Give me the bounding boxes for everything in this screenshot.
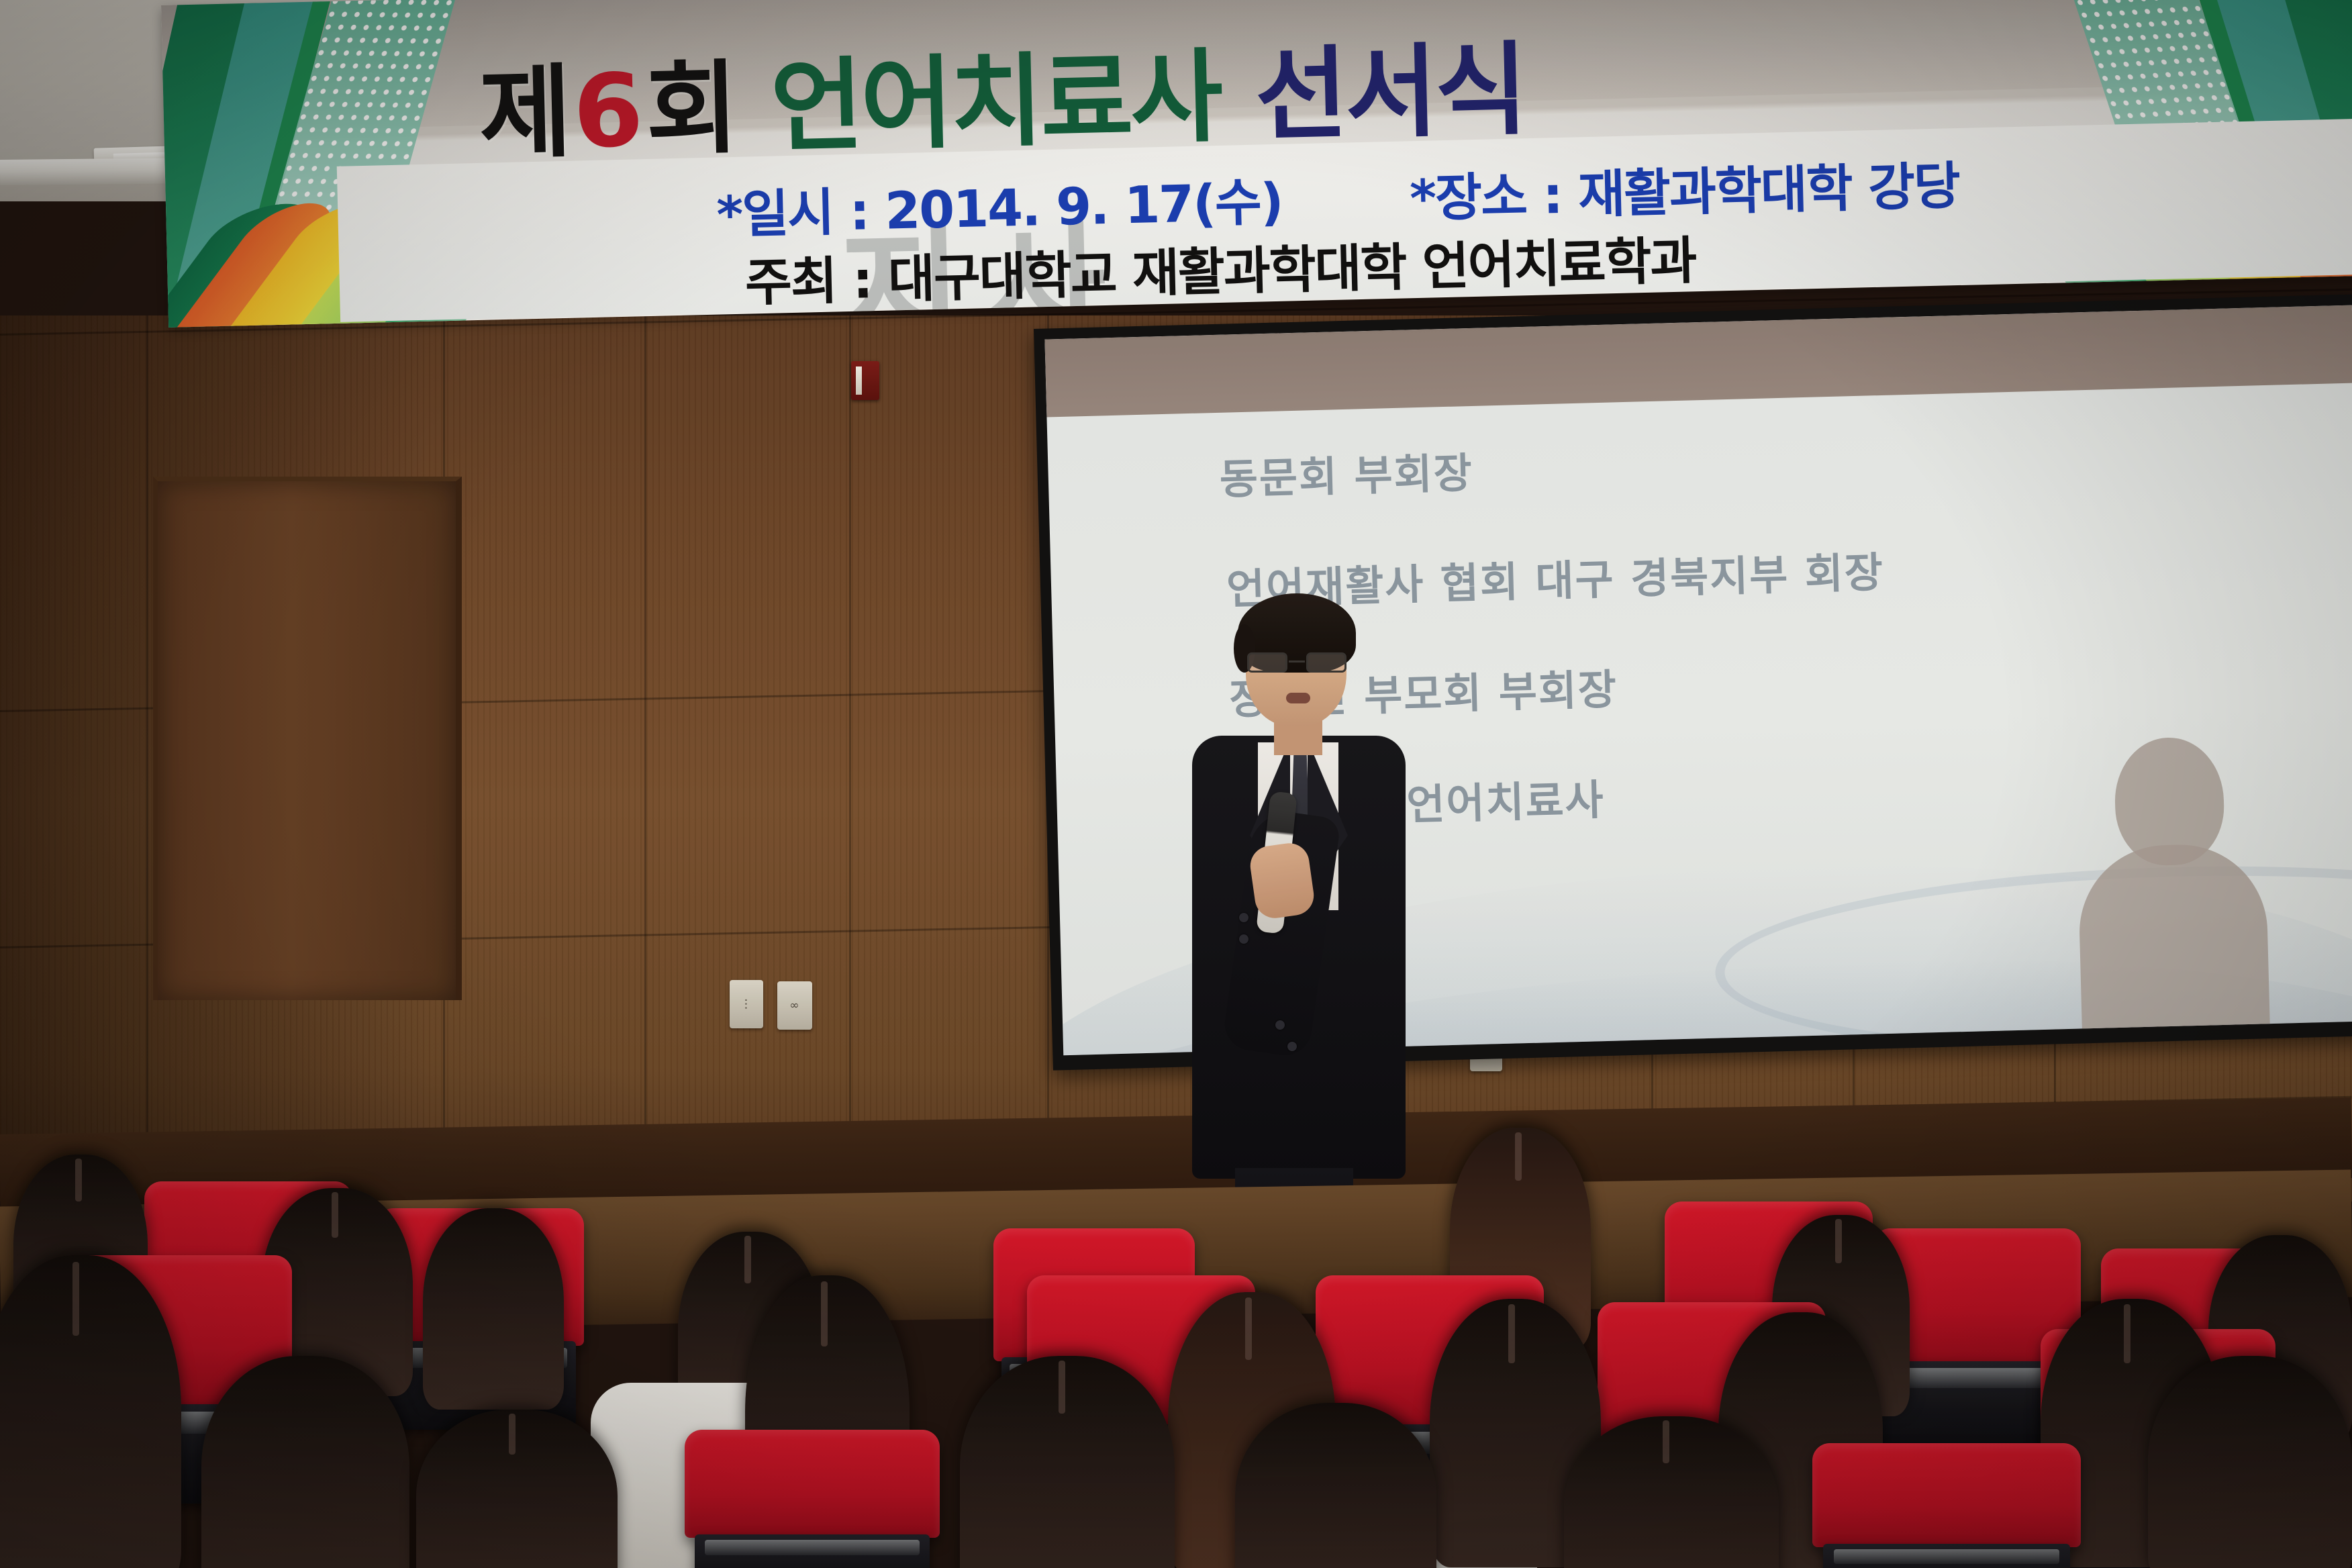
- audience-head: [1564, 1416, 1779, 1568]
- banner-title-number: 6: [568, 52, 647, 171]
- slide-line-1: 동문회 부회장: [1219, 416, 2348, 506]
- glasses-bridge: [1289, 660, 1305, 663]
- speaker-person: [1188, 591, 1410, 1269]
- wall-seam: [146, 315, 148, 1202]
- switch-icon: ⋮: [740, 997, 752, 1011]
- audience-head: [416, 1410, 618, 1568]
- photo-canvas: ⋮ ∞ ∞ 동문회 부회장 언어재활사 협회 대구 경북지부 회장 장애인 부모…: [0, 0, 2352, 1568]
- jacket-button: [1287, 1042, 1297, 1051]
- light-switch-plate[interactable]: ⋮: [730, 980, 763, 1028]
- banner-title-part-4: 언어치료사: [769, 15, 1222, 172]
- jacket-button: [1275, 1020, 1285, 1030]
- jacket-button: [1239, 934, 1248, 944]
- banner-title-part-1: 제: [477, 31, 571, 179]
- speaker-mouth: [1286, 693, 1310, 703]
- audience-head: [960, 1356, 1175, 1568]
- glasses-lens: [1247, 652, 1287, 673]
- glasses-icon: [1247, 652, 1346, 673]
- wall-seam: [644, 315, 646, 1202]
- banner-host-label: 주최 : 대구대학교 재활과학대학 언어치료학과: [744, 230, 1696, 312]
- audience-head: [0, 1255, 181, 1568]
- jacket-button: [1239, 913, 1248, 922]
- glasses-lens: [1306, 652, 1346, 673]
- event-banner: 제 6 회 언어치료사 선서식 지사 *일시 : 2014. 9. 17(수) …: [161, 0, 2352, 328]
- power-outlet-plate: ∞: [777, 981, 812, 1030]
- auditorium-seat: [1812, 1443, 2081, 1568]
- audience-head: [201, 1356, 409, 1568]
- speaker-hand: [1248, 840, 1316, 920]
- banner-title-part-3: 회: [644, 27, 737, 175]
- wall-seam: [849, 315, 851, 1202]
- slide-person-silhouette: [2061, 735, 2284, 1029]
- auditorium-seat: [685, 1430, 940, 1568]
- fire-alarm-icon: [851, 361, 879, 400]
- audience-head: [2148, 1356, 2352, 1568]
- banner-title-part-5: 선서식: [1253, 8, 1526, 160]
- outlet-icon: ∞: [789, 999, 799, 1012]
- audience-head: [423, 1208, 564, 1410]
- silhouette-body: [2077, 842, 2270, 1042]
- side-door[interactable]: [153, 477, 462, 1000]
- audience-head: [1235, 1403, 1436, 1568]
